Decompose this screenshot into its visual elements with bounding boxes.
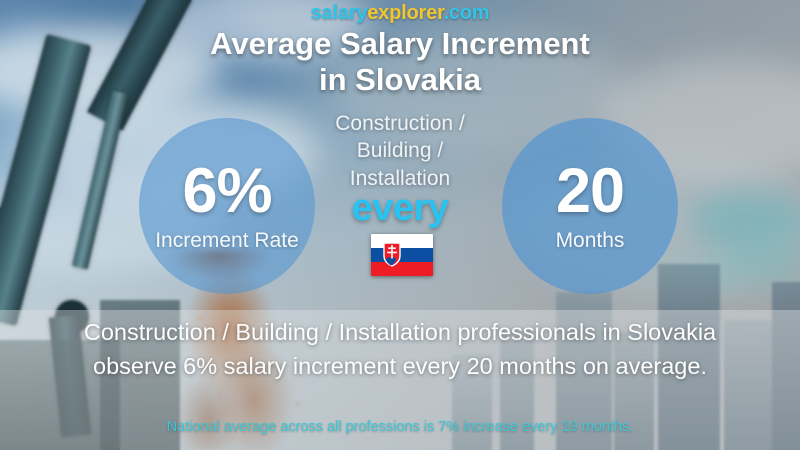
logo-part-domain: .com bbox=[443, 2, 489, 24]
job-category-line-2: Building / bbox=[300, 137, 500, 164]
job-category-line-1: Construction / bbox=[300, 110, 500, 137]
logo-part-salary: salary bbox=[311, 2, 368, 24]
site-logo[interactable]: salaryexplorer.com bbox=[0, 2, 800, 25]
slovakia-flag-icon bbox=[371, 234, 433, 276]
page-title-line-1: Average Salary Increment bbox=[0, 26, 800, 62]
metric-circle-months: 20 Months bbox=[502, 118, 678, 294]
job-category-label: Construction / Building / Installation bbox=[300, 110, 500, 192]
connector-label: every bbox=[300, 187, 500, 230]
logo-part-explorer: explorer bbox=[367, 2, 443, 24]
description-text: Construction / Building / Installation p… bbox=[14, 316, 786, 384]
description-line-2: observe 6% salary increment every 20 mon… bbox=[14, 350, 786, 384]
metric-label-increment-rate: Increment Rate bbox=[155, 229, 299, 253]
footnote-national-average: National average across all professions … bbox=[14, 419, 786, 435]
metric-circle-increment-rate: 6% Increment Rate bbox=[139, 118, 315, 294]
description-line-1: Construction / Building / Installation p… bbox=[14, 316, 786, 350]
metric-value-months: 20 bbox=[556, 160, 624, 223]
metric-value-increment-rate: 6% bbox=[182, 160, 271, 223]
page-title-line-2: in Slovakia bbox=[0, 62, 800, 98]
page-title: Average Salary Increment in Slovakia bbox=[0, 26, 800, 98]
infographic-canvas: salaryexplorer.com Average Salary Increm… bbox=[0, 0, 800, 450]
metric-label-months: Months bbox=[556, 229, 625, 253]
